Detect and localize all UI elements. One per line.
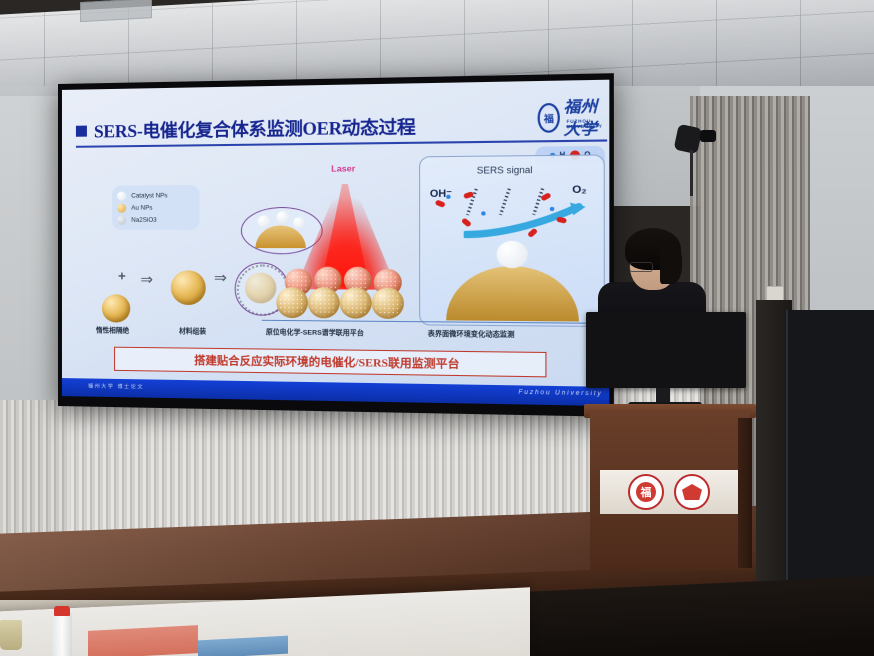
red-document (88, 625, 198, 656)
arrow-right-icon: ⇒ (214, 268, 227, 286)
au-np-dot-icon (117, 203, 126, 212)
particle-legend: Catalyst NPs Au NPs Na2SiO3 (112, 185, 200, 230)
crest-shape (682, 484, 702, 500)
slide-title: SERS-电催化复合体系监测OER动态过程 (94, 113, 416, 143)
h-atom (481, 211, 485, 215)
h-atom (550, 207, 554, 211)
legend-item: Catalyst NPs (117, 189, 194, 202)
catalyst-particle (293, 217, 305, 228)
au-sphere (102, 294, 130, 322)
legend-item: Na2SiO3 (117, 213, 194, 225)
presenter-glasses (629, 262, 653, 272)
fu-seal-icon: 福 (628, 474, 664, 510)
sers-detail-panel: SERS signal OH⁻ O₂ (419, 154, 605, 327)
na2sio3-dot-icon (117, 215, 126, 224)
presenter-hair-side (660, 244, 682, 284)
blue-document (198, 636, 288, 656)
conference-room-photo: SERS-电催化复合体系监测OER动态过程 福 福州大学 FUZHOU UNIV… (0, 0, 874, 656)
nanoparticle (340, 287, 372, 318)
arrow-right-icon: ⇒ (140, 270, 153, 288)
logo-seal-icon: 福 (538, 103, 561, 133)
reaction-arrow-icon (464, 202, 588, 238)
legend-label: Au NPs (131, 204, 152, 211)
fu-character: 福 (636, 482, 656, 502)
sers-signal-label: SERS signal (477, 165, 533, 176)
presentation-slide: SERS-电催化复合体系监测OER动态过程 福 福州大学 FUZHOU UNIV… (62, 80, 609, 406)
caption-1: 惰性相隔绝 (96, 324, 129, 334)
caption-4: 表界面微环境变化动态监测 (428, 328, 515, 339)
conclusion-highlight-box: 搭建贴合反应实际环境的电催化/SERS联用监测平台 (114, 347, 546, 378)
laser-label: Laser (331, 163, 355, 174)
au-sphere (171, 270, 206, 305)
catalyst-np-dot-icon (117, 191, 126, 200)
av-equipment-rack (786, 310, 874, 610)
legend-label: Na2SiO3 (131, 216, 156, 223)
legend-item: Au NPs (117, 201, 194, 213)
camera-device (700, 130, 716, 142)
speaker-mount (690, 150, 693, 196)
university-crest-icon (674, 474, 710, 510)
nanoparticle (372, 288, 404, 319)
electrode-dome (446, 266, 579, 322)
footer-right-text: Fuzhou University (518, 390, 602, 398)
legend-label: Catalyst NPs (131, 192, 167, 199)
footer-left-text: 福州大学 博士论文 (88, 382, 144, 390)
catalyst-particle (258, 215, 271, 227)
nanoparticle (276, 287, 308, 318)
podium-emblem-plaque: 福 (600, 470, 738, 514)
podium-monitor[interactable] (586, 312, 746, 388)
cup (0, 620, 22, 650)
plus-symbol: + (118, 268, 126, 283)
logo-english-name: FUZHOU UNIVERSITY (567, 118, 610, 129)
caption-3: 原位电化学-SERS谱学联用平台 (266, 326, 364, 337)
caption-2: 材料组装 (179, 325, 206, 335)
o2-bubble (497, 241, 528, 268)
catalyst-particle (276, 211, 289, 223)
conclusion-text: 搭建贴合反应实际环境的电催化/SERS联用监测平台 (194, 352, 459, 372)
o2-species-label: O₂ (572, 183, 586, 196)
h-atom (446, 195, 450, 199)
podium-side-panel (738, 418, 752, 568)
o2-molecule (435, 199, 446, 208)
nanoparticle (308, 287, 340, 318)
slatted-wall-panel-left-corner (0, 400, 70, 550)
water-bottle (52, 612, 72, 656)
bottle-cap (54, 606, 70, 616)
bullet-square-icon (76, 125, 87, 136)
slide-footer-bar: 福州大学 博士论文 Fuzhou University (62, 378, 609, 406)
led-display-screen[interactable]: SERS-电催化复合体系监测OER动态过程 福 福州大学 FUZHOU UNIV… (58, 73, 614, 417)
nanoparticle-array (281, 269, 413, 322)
